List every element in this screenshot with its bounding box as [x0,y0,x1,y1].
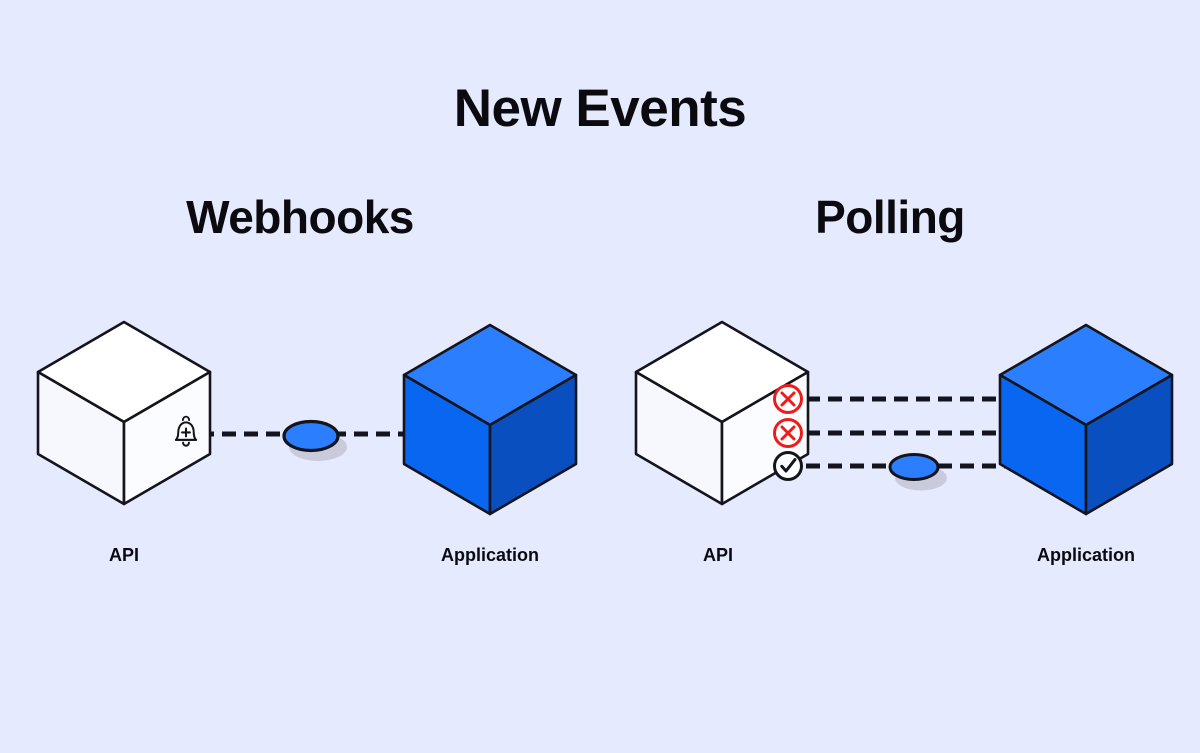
cube-application-polling[interactable] [1000,325,1172,514]
payload-disc-webhooks[interactable] [284,422,347,462]
section-heading-webhooks: Webhooks [60,190,540,244]
node-label-api-webhooks: API [24,545,224,566]
error-circle-icon[interactable] [775,420,802,447]
disc-body [284,422,338,451]
payload-disc-polling[interactable] [890,455,947,491]
disc-body [890,455,938,480]
page-title: New Events [0,78,1200,139]
diagram-canvas: New Events Webhooks Polling API Applicat… [0,0,1200,753]
node-label-application-webhooks: Application [390,545,590,566]
check-circle-ring [775,453,802,480]
cube-application-webhooks[interactable] [404,325,576,514]
node-label-application-polling: Application [986,545,1186,566]
error-circle-icon[interactable] [775,386,802,413]
node-label-api-polling: API [618,545,818,566]
cube-api-webhooks[interactable] [38,322,210,504]
check-circle-icon[interactable] [775,453,802,480]
section-heading-polling: Polling [650,190,1130,244]
